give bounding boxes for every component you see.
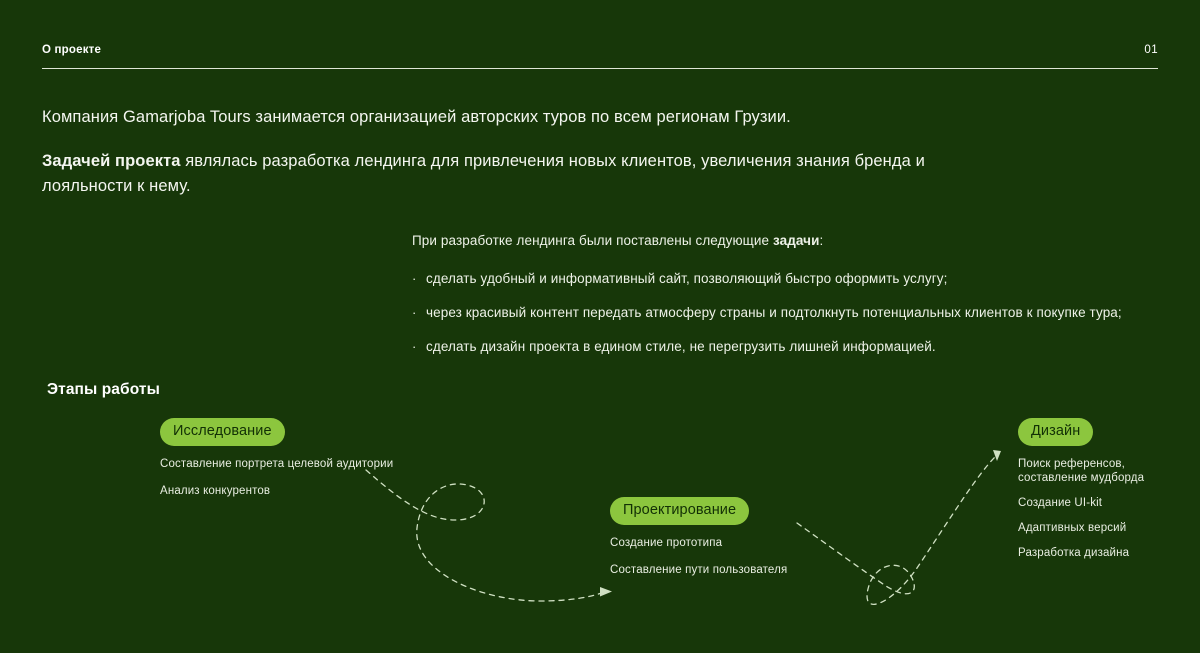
stage-point: Адаптивных версий bbox=[1018, 521, 1144, 535]
stage-prototyping-pill[interactable]: Проектирование bbox=[610, 497, 749, 525]
task-text: сделать удобный и информативный сайт, по… bbox=[426, 269, 1172, 289]
slide-root: О проекте 01 Компания Gamarjoba Tours за… bbox=[0, 0, 1200, 653]
stage-point: Поиск референсов, составление мудборда bbox=[1018, 457, 1144, 485]
slide-header: О проекте 01 bbox=[42, 44, 1158, 72]
stage-point: Составление пути пользователя bbox=[610, 563, 787, 577]
intro-lead-paragraph: Компания Gamarjoba Tours занимается орга… bbox=[42, 105, 1022, 129]
connector-arrow-2-head bbox=[993, 450, 1001, 461]
tasks-title: При разработке лендинга были поставлены … bbox=[412, 231, 1172, 251]
stage-prototyping-list: Создание прототипа Составление пути поль… bbox=[610, 536, 787, 577]
stage-research-pill[interactable]: Исследование bbox=[160, 418, 285, 446]
intro-block: Компания Gamarjoba Tours занимается орга… bbox=[42, 105, 1022, 199]
intro-task-bold: Задачей проекта bbox=[42, 152, 181, 170]
tasks-title-bold: задачи bbox=[773, 233, 820, 248]
tasks-title-prefix: При разработке лендинга были поставлены … bbox=[412, 233, 773, 248]
stage-design-pill[interactable]: Дизайн bbox=[1018, 418, 1093, 446]
intro-task-paragraph: Задачей проекта являлась разработка ленд… bbox=[42, 149, 942, 199]
task-list-item: · сделать дизайн проекта в едином стиле,… bbox=[412, 337, 1172, 357]
task-list-item: · сделать удобный и информативный сайт, … bbox=[412, 269, 1172, 289]
stage-research-list: Составление портрета целевой аудитории А… bbox=[160, 457, 393, 498]
stage-design-list: Поиск референсов, составление мудборда С… bbox=[1018, 457, 1144, 560]
connector-arrow-1 bbox=[366, 470, 604, 601]
stage-point: Создание прототипа bbox=[610, 536, 787, 550]
page-number: 01 bbox=[1144, 44, 1158, 56]
stage-prototyping: Проектирование Создание прототипа Состав… bbox=[610, 497, 787, 590]
tasks-block: При разработке лендинга были поставлены … bbox=[412, 231, 1172, 371]
bullet-icon: · bbox=[412, 269, 426, 289]
task-list-item: · через красивый контент передать атмосф… bbox=[412, 303, 1172, 323]
connector-arrow-2 bbox=[797, 455, 997, 604]
stages-heading: Этапы работы bbox=[47, 381, 160, 399]
stage-point: Составление портрета целевой аудитории bbox=[160, 457, 393, 471]
stage-research: Исследование Составление портрета целево… bbox=[160, 418, 393, 511]
section-label: О проекте bbox=[42, 44, 101, 56]
stage-point: Создание UI-kit bbox=[1018, 496, 1144, 510]
header-divider bbox=[42, 68, 1158, 69]
tasks-title-suffix: : bbox=[820, 233, 824, 248]
task-text: через красивый контент передать атмосфер… bbox=[426, 303, 1172, 323]
bullet-icon: · bbox=[412, 303, 426, 323]
task-text: сделать дизайн проекта в едином стиле, н… bbox=[426, 337, 1172, 357]
stage-point: Разработка дизайна bbox=[1018, 546, 1144, 560]
stage-point: Анализ конкурентов bbox=[160, 484, 393, 498]
stage-design: Дизайн Поиск референсов, составление муд… bbox=[1018, 418, 1144, 560]
bullet-icon: · bbox=[412, 337, 426, 357]
